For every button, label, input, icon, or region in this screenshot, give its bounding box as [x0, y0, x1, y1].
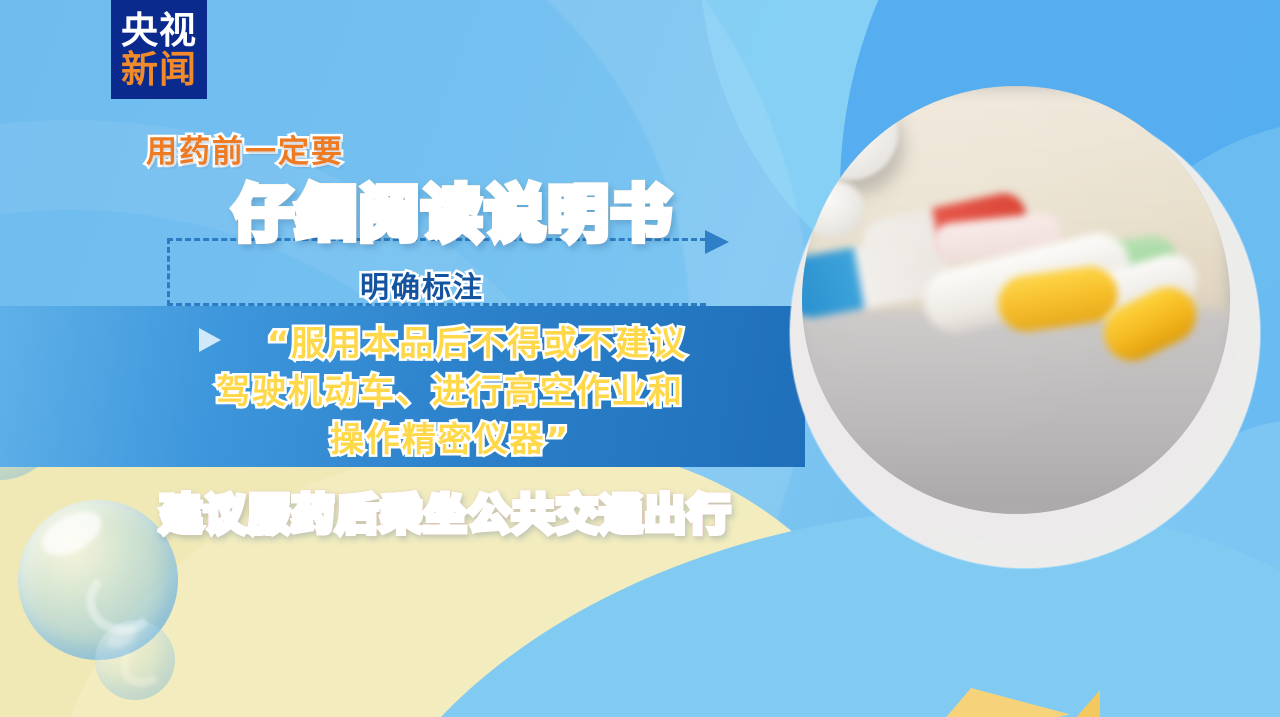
- pills-photo: [802, 86, 1230, 514]
- quote-line-2: 驾驶机动车、进行高空作业和: [170, 368, 730, 416]
- logo-line-bottom: 新闻: [121, 51, 197, 88]
- quote-text-block: “服用本品后不得或不建议 驾驶机动车、进行高空作业和 操作精密仪器”: [170, 320, 730, 464]
- logo-line-top: 央视: [121, 12, 197, 49]
- quote-line-3: 操作精密仪器”: [170, 416, 730, 464]
- decorative-bubble-tiny: [95, 620, 175, 700]
- quote-line-1: “服用本品后不得或不建议: [170, 320, 730, 368]
- cctv-news-logo: 央视 新闻: [111, 0, 207, 99]
- photo-sheen-overlay: [802, 86, 1230, 514]
- headline-kicker: 用药前一定要: [146, 126, 344, 171]
- headline-subline: 明确标注: [360, 264, 484, 306]
- bottom-slogan: 建议服药后乘坐公共交通出行: [160, 481, 732, 542]
- headline-title: 仔细阅读说明书: [233, 166, 674, 253]
- right-arrow-icon: [705, 230, 729, 254]
- broadcast-graphic-frame: 央视 新闻 用药前一定要 仔细阅读说明书 明确标注 “服用本品后不得或不建议 驾…: [0, 0, 1280, 717]
